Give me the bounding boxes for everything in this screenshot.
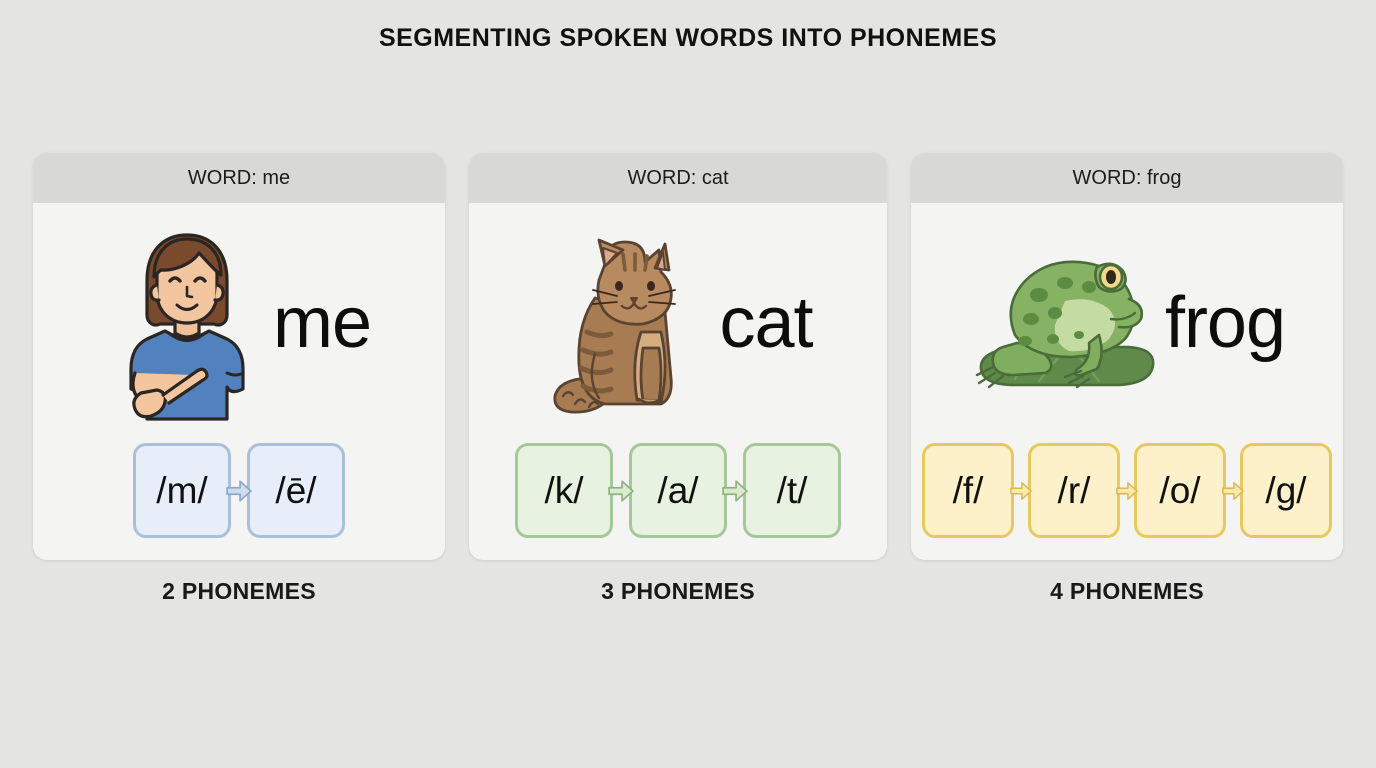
phoneme-count-caption: 2 PHONEMES <box>162 578 316 605</box>
arrow-right-icon <box>1116 478 1138 504</box>
phoneme-chip[interactable]: /r/ <box>1028 443 1120 538</box>
phoneme-strip-frog: /f/ /r/ /o/ /g/ <box>911 443 1343 560</box>
card-body-cat: cat /k/ /a/ /t/ <box>469 203 887 560</box>
card-container-cat: WORD: cat <box>469 153 887 560</box>
word-card-me: WORD: me <box>33 153 445 605</box>
card-header-frog: WORD: frog <box>911 153 1343 203</box>
word-text-frog: frog <box>1165 287 1285 359</box>
phoneme-chip[interactable]: /g/ <box>1240 443 1332 538</box>
phoneme-count-caption: 3 PHONEMES <box>601 578 755 605</box>
word-row-frog: frog <box>911 203 1343 443</box>
phoneme-chip[interactable]: /ē/ <box>247 443 345 538</box>
phoneme-chip[interactable]: /k/ <box>515 443 613 538</box>
frog-on-lily-pad-icon <box>969 243 1159 403</box>
phoneme-cards-row: WORD: me <box>33 153 1343 613</box>
card-container-frog: WORD: frog <box>911 153 1343 560</box>
girl-pointing-at-self-icon <box>107 223 267 423</box>
phoneme-chip[interactable]: /o/ <box>1134 443 1226 538</box>
word-row-cat: cat <box>469 203 887 443</box>
arrow-right-icon <box>1222 478 1244 504</box>
word-card-cat: WORD: cat <box>469 153 887 605</box>
page-title: SEGMENTING SPOKEN WORDS INTO PHONEMES <box>0 24 1376 53</box>
word-card-frog: WORD: frog <box>911 153 1343 605</box>
card-header-cat: WORD: cat <box>469 153 887 203</box>
card-header-me: WORD: me <box>33 153 445 203</box>
card-container-me: WORD: me <box>33 153 445 560</box>
phoneme-strip-cat: /k/ /a/ /t/ <box>469 443 887 560</box>
word-row-me: me <box>33 203 445 443</box>
arrow-right-icon <box>1010 478 1032 504</box>
card-body-frog: frog /f/ /r/ /o/ /g/ <box>911 203 1343 560</box>
word-text-me: me <box>273 287 371 359</box>
card-body-me: me /m/ /ē/ <box>33 203 445 560</box>
phoneme-count-caption: 4 PHONEMES <box>1050 578 1204 605</box>
phoneme-chip[interactable]: /m/ <box>133 443 231 538</box>
arrow-right-icon <box>722 478 748 504</box>
arrow-right-icon <box>608 478 634 504</box>
phoneme-chip[interactable]: /t/ <box>743 443 841 538</box>
phoneme-strip-me: /m/ /ē/ <box>33 443 445 560</box>
arrow-right-icon <box>226 478 252 504</box>
phoneme-chip[interactable]: /a/ <box>629 443 727 538</box>
phoneme-chip[interactable]: /f/ <box>922 443 1014 538</box>
sitting-tabby-cat-icon <box>543 228 713 418</box>
word-text-cat: cat <box>719 287 812 359</box>
